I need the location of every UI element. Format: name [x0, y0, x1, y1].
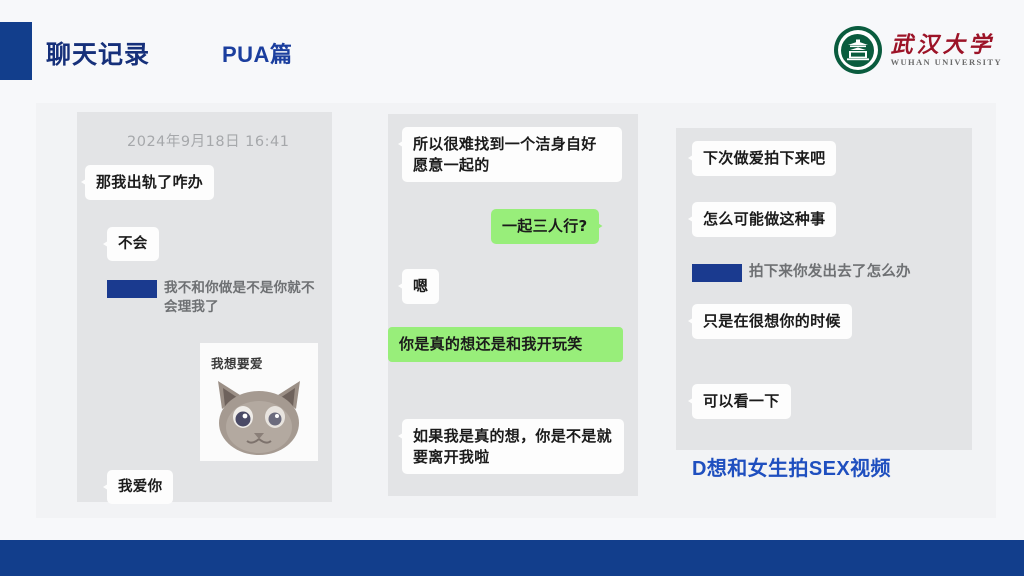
chat-redacted-message: 拍下来你发出去了怎么办	[692, 262, 967, 282]
crying-kitten-sticker	[214, 375, 304, 455]
slide-footer-bar	[0, 540, 1024, 576]
chat-bubble: 你是真的想还是和我开玩笑	[388, 327, 623, 362]
chat-timestamp: 2024年9月18日 16:41	[127, 130, 289, 151]
redaction-block	[107, 280, 157, 298]
chat-bubble: 下次做爱拍下来吧	[692, 141, 836, 176]
header-accent-bar	[0, 22, 32, 80]
chat-bubble: 我爱你	[107, 470, 173, 504]
page-subtitle: PUA篇	[222, 37, 292, 69]
chat-screenshot-middle: 所以很难找到一个洁身自好愿意一起的 一起三人行? 嗯 你是真的想还是和我开玩笑 …	[388, 114, 638, 496]
chat-bubble: 怎么可能做这种事	[692, 202, 836, 237]
chat-bubble: 不会	[107, 227, 159, 261]
wuhan-university-crest-icon	[834, 26, 882, 74]
right-column-caption: D想和女生拍SEX视频	[692, 452, 891, 481]
chat-sticker: 我想要爱	[200, 343, 318, 461]
university-logo: 武汉大学 WUHAN UNIVERSITY	[834, 24, 1002, 76]
pavilion-icon	[845, 39, 871, 61]
chat-screenshot-left: 2024年9月18日 16:41 那我出轨了咋办 不会 我不和你做是不是你就不会…	[77, 112, 332, 502]
page-title: 聊天记录	[46, 35, 150, 71]
chat-bubble: 所以很难找到一个洁身自好愿意一起的	[402, 127, 622, 182]
redaction-block	[692, 264, 742, 282]
chat-bubble: 可以看一下	[692, 384, 791, 419]
chat-bubble: 只是在很想你的时候	[692, 304, 852, 339]
chat-redacted-message: 我不和你做是不是你就不会理我了	[107, 279, 322, 317]
logo-name-en: WUHAN UNIVERSITY	[891, 58, 1002, 67]
chat-bubble: 一起三人行?	[491, 209, 599, 244]
chat-bubble: 嗯	[402, 269, 439, 304]
chat-message-text: 拍下来你发出去了怎么办	[749, 262, 911, 282]
sticker-caption: 我想要爱	[211, 353, 263, 372]
chat-message-text: 我不和你做是不是你就不会理我了	[164, 279, 322, 317]
slide-header: 聊天记录 PUA篇 武汉大学 WUHAN UNIVERSITY	[0, 0, 1024, 100]
chat-screenshot-right: 下次做爱拍下来吧 怎么可能做这种事 拍下来你发出去了怎么办 只是在很想你的时候 …	[676, 128, 972, 450]
chat-bubble: 如果我是真的想，你是不是就要离开我啦	[402, 419, 624, 474]
chat-bubble: 那我出轨了咋办	[85, 165, 214, 200]
logo-wordmark: 武汉大学 WUHAN UNIVERSITY	[891, 34, 1002, 67]
logo-name-cn: 武汉大学	[891, 34, 1002, 56]
